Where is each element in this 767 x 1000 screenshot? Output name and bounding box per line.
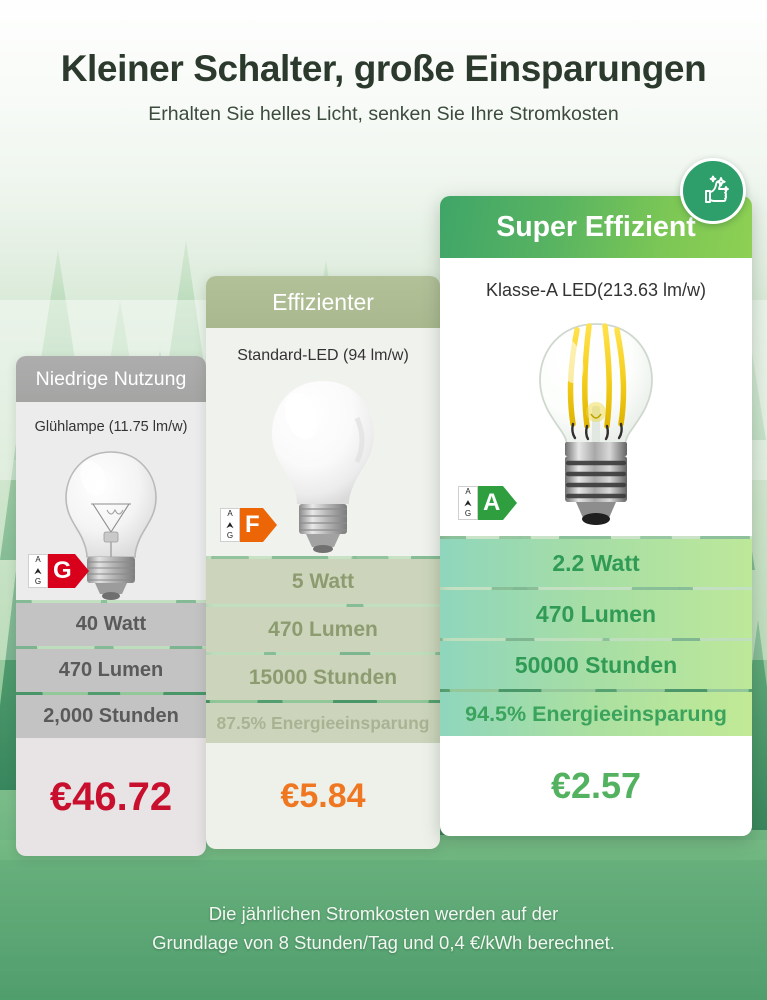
row-hours: 2,000 Stunden xyxy=(16,695,206,738)
page-title: Kleiner Schalter, große Einsparungen xyxy=(0,48,767,91)
tier-header-mid: Effizienter xyxy=(206,276,440,328)
energy-scale: A ⮝ G xyxy=(220,508,240,542)
scale-bottom: G xyxy=(465,510,471,518)
price-best: €2.57 xyxy=(440,736,752,836)
price-value: €5.84 xyxy=(280,777,365,816)
card-efficient: Effizienter Standard-LED (94 lm/w) xyxy=(206,276,440,849)
scale-bottom: G xyxy=(227,532,233,540)
energy-label-g: A ⮝ G G xyxy=(28,554,75,588)
saving-value: 94.5% Energieeinsparung xyxy=(465,702,727,727)
price-mid: €5.84 xyxy=(206,743,440,849)
spec-rows-low: 40 Watt 470 Lumen 2,000 Stunden xyxy=(16,600,206,738)
row-watt: 5 Watt xyxy=(206,559,440,604)
thumbs-up-sparkle-icon xyxy=(680,158,746,224)
saving-value: 87.5% Energieeinsparung xyxy=(217,713,430,734)
energy-grade: A xyxy=(483,489,500,517)
comparison-columns: Niedrige Nutzung Glühlampe (11.75 lm/w) xyxy=(0,150,767,870)
saving-mid: 87.5% Energieeinsparung xyxy=(206,703,440,743)
column-efficient: Effizienter Standard-LED (94 lm/w) xyxy=(206,276,440,849)
scale-top: A xyxy=(465,488,470,496)
scale-bottom: G xyxy=(35,578,41,586)
row-hours: 15000 Stunden xyxy=(206,655,440,700)
row-lumen: 470 Lumen xyxy=(206,607,440,652)
row-lumen: 470 Lumen xyxy=(16,649,206,692)
energy-grade-flag: G xyxy=(47,554,75,588)
footnote-line-1: Die jährlichen Stromkosten werden auf de… xyxy=(0,900,767,929)
scale-top: A xyxy=(35,556,40,564)
scale-top: A xyxy=(227,510,232,518)
footnote-line-2: Grundlage von 8 Stunden/Tag und 0,4 €/kW… xyxy=(0,929,767,958)
energy-label-f: A ⮝ G F xyxy=(220,508,263,542)
up-arrow-icon: ⮝ xyxy=(226,521,234,530)
up-arrow-icon: ⮝ xyxy=(464,499,472,508)
row-watt: 2.2 Watt xyxy=(440,539,752,587)
spec-rows-mid: 5 Watt 470 Lumen 15000 Stunden xyxy=(206,556,440,700)
row-hours: 50000 Stunden xyxy=(440,641,752,689)
energy-grade: F xyxy=(245,511,260,539)
bulb-panel-mid: Standard-LED (94 lm/w) xyxy=(206,328,440,556)
bulb-panel-best: Klasse-A LED(213.63 lm/w) xyxy=(440,258,752,536)
energy-label-a: A ⮝ G A xyxy=(458,486,503,520)
column-super-efficient: Super Effizient Klasse-A LED(213.63 lm/w… xyxy=(440,196,752,836)
price-value: €2.57 xyxy=(551,765,641,807)
column-low-usage: Niedrige Nutzung Glühlampe (11.75 lm/w) xyxy=(16,356,206,856)
tier-header-low: Niedrige Nutzung xyxy=(16,356,206,402)
row-watt: 40 Watt xyxy=(16,603,206,646)
bulb-panel-low: Glühlampe (11.75 lm/w) xyxy=(16,402,206,600)
header-block: Kleiner Schalter, große Einsparungen Erh… xyxy=(0,0,767,126)
energy-scale: A ⮝ G xyxy=(458,486,478,520)
energy-scale: A ⮝ G xyxy=(28,554,48,588)
tier-label: Super Effizient xyxy=(496,211,696,244)
energy-grade: G xyxy=(53,557,72,585)
up-arrow-icon: ⮝ xyxy=(34,567,42,576)
row-lumen: 470 Lumen xyxy=(440,590,752,638)
energy-grade-flag: F xyxy=(239,508,263,542)
energy-grade-flag: A xyxy=(477,486,503,520)
spec-rows-best: 2.2 Watt 470 Lumen 50000 Stunden xyxy=(440,536,752,689)
price-low: €46.72 xyxy=(16,738,206,856)
card-super-efficient: Super Effizient Klasse-A LED(213.63 lm/w… xyxy=(440,196,752,836)
tier-label: Effizienter xyxy=(272,289,374,316)
saving-best: 94.5% Energieeinsparung xyxy=(440,692,752,736)
tier-label: Niedrige Nutzung xyxy=(36,368,187,391)
footnote: Die jährlichen Stromkosten werden auf de… xyxy=(0,900,767,957)
page-subtitle: Erhalten Sie helles Licht, senken Sie Ih… xyxy=(0,103,767,126)
price-value: €46.72 xyxy=(50,775,172,820)
infographic-root: Kleiner Schalter, große Einsparungen Erh… xyxy=(0,0,767,1000)
card-low-usage: Niedrige Nutzung Glühlampe (11.75 lm/w) xyxy=(16,356,206,856)
